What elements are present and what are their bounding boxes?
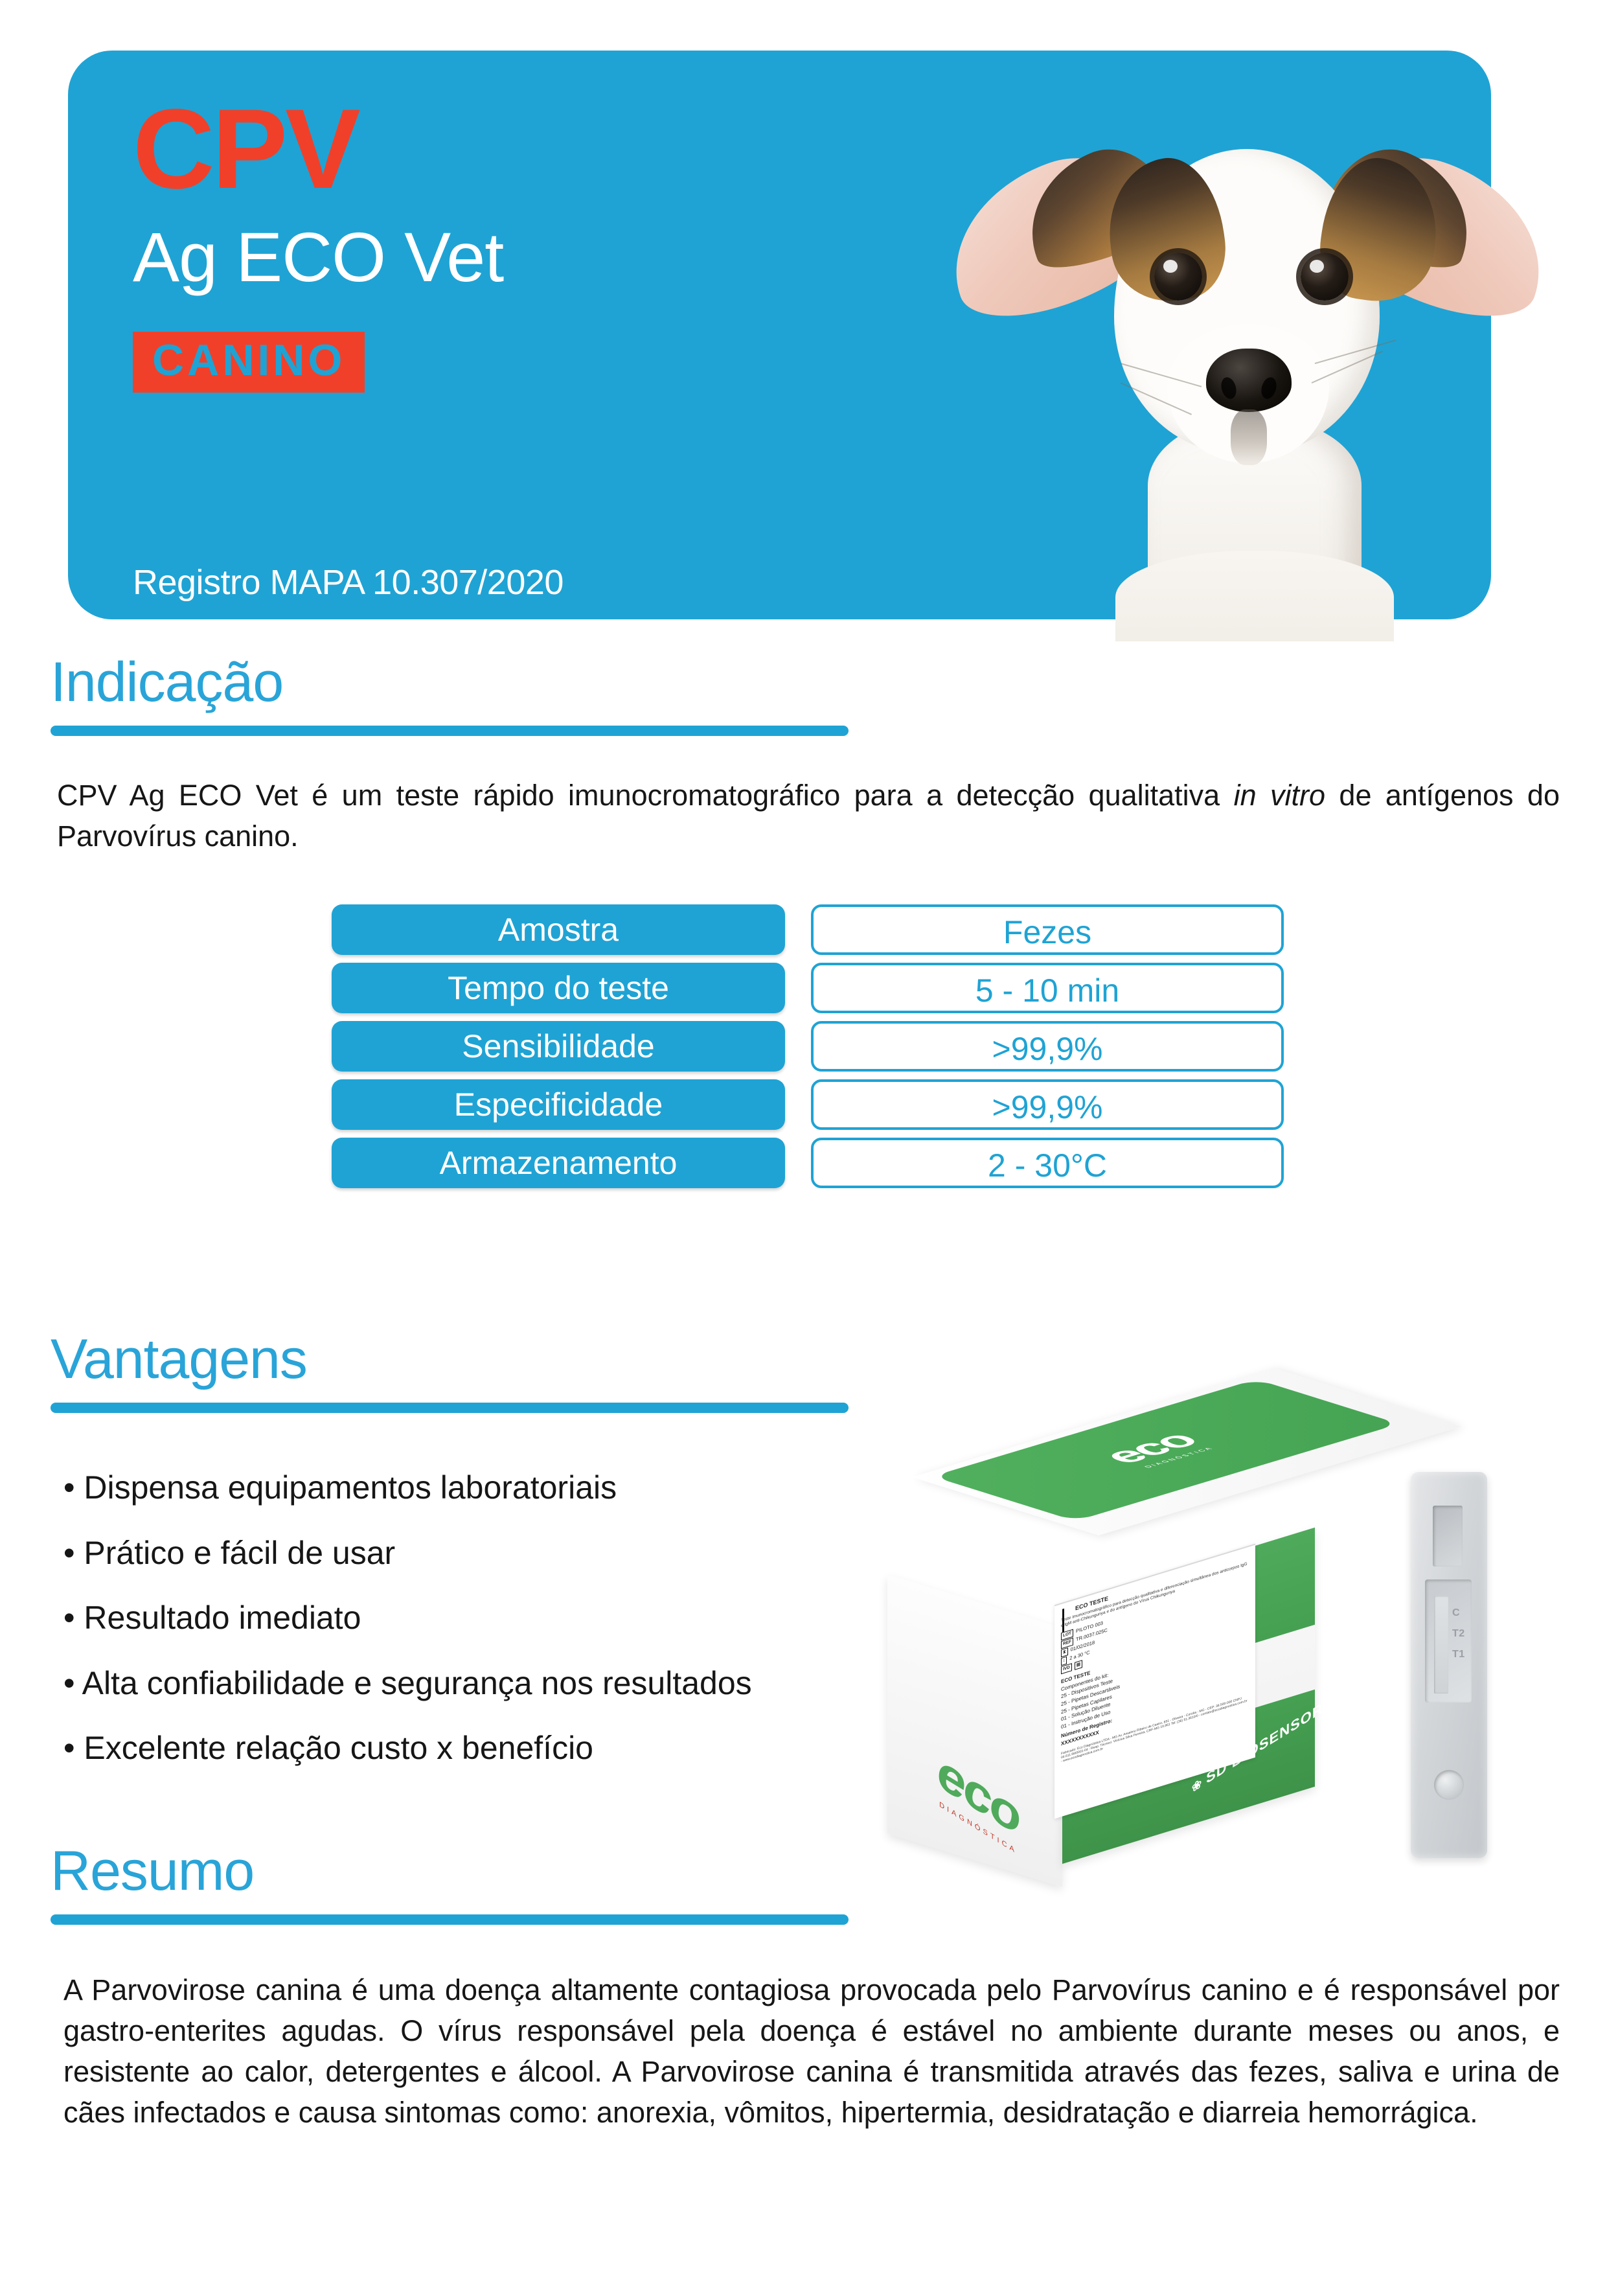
- cassette-mark-c: C: [1452, 1603, 1465, 1624]
- table-row: Amostra Fezes: [332, 904, 1284, 955]
- cassette-sample-port: [1433, 1506, 1463, 1567]
- cassette-mark-t1: T1: [1452, 1644, 1465, 1665]
- table-row: Sensibilidade >99,9%: [332, 1021, 1284, 1072]
- section-title-resumo: Resumo: [51, 1843, 849, 1899]
- label-black-bar: [1062, 1609, 1064, 1633]
- species-badge: CANINO: [133, 332, 365, 393]
- eco-logo-left: eco DIAGNÓSTICA: [913, 1725, 1043, 1872]
- spec-label-amostra: Amostra: [332, 904, 785, 955]
- list-item: Dispensa equipamentos laboratoriais: [63, 1471, 925, 1505]
- dog-mouth: [1231, 409, 1267, 465]
- spec-label-especificidade: Especificidade: [332, 1079, 785, 1130]
- cassette-sample-well: [1434, 1770, 1464, 1800]
- section-title-indicacao: Indicação: [51, 654, 849, 710]
- dog-illustration: [926, 39, 1561, 641]
- indicacao-paragraph: CPV Ag ECO Vet é um teste rápido imunocr…: [57, 775, 1560, 856]
- section-divider: [51, 1914, 849, 1925]
- manual-icon: ▤: [1075, 1660, 1082, 1670]
- table-row: Tempo do teste 5 - 10 min: [332, 963, 1284, 1013]
- specification-table: Amostra Fezes Tempo do teste 5 - 10 min …: [332, 904, 1284, 1196]
- dog-photo: [926, 39, 1561, 641]
- ivd-tag: IVD: [1061, 1663, 1072, 1674]
- cassette-line-labels: C T2 T1: [1452, 1603, 1465, 1665]
- registration-text: Registro MAPA 10.307/2020: [133, 562, 564, 603]
- section-header-vantagens: Vantagens: [51, 1331, 849, 1413]
- dog-eye-left: [1154, 253, 1202, 301]
- box-left-face: eco DIAGNÓSTICA: [887, 1574, 1062, 1887]
- section-divider: [51, 726, 849, 736]
- cassette-mark-t2: T2: [1452, 1624, 1465, 1644]
- cassette-result-window: C T2 T1: [1425, 1579, 1472, 1703]
- test-cassette: C T2 T1: [1411, 1472, 1487, 1858]
- list-item: Alta confiabilidade e segurança nos resu…: [63, 1666, 925, 1701]
- resumo-paragraph: A Parvovirose canina é uma doença altame…: [63, 1969, 1560, 2133]
- header-banner-section: CPV Ag ECO Vet CANINO Registro MAPA 10.3…: [0, 0, 1607, 641]
- spec-value-especificidade: >99,9%: [811, 1079, 1284, 1130]
- table-row: Especificidade >99,9%: [332, 1079, 1284, 1130]
- vantagens-list: Dispensa equipamentos laboratoriais Prát…: [63, 1471, 925, 1797]
- eco-brand-mark: eco: [913, 1725, 1043, 1863]
- list-item: Resultado imediato: [63, 1601, 925, 1635]
- brand-block: CPV Ag ECO Vet CANINO: [133, 97, 845, 393]
- product-photo: eco DIAGNÓSTICA eco DIAGNÓSTICA eco DIAG…: [868, 1445, 1555, 1885]
- product-box: eco DIAGNÓSTICA eco DIAGNÓSTICA eco DIAG…: [887, 1477, 1406, 1866]
- spec-value-armazenamento: 2 - 30°C: [811, 1138, 1284, 1188]
- dog-nose: [1206, 349, 1292, 412]
- section-title-vantagens: Vantagens: [51, 1331, 849, 1387]
- list-item: Excelente relação custo x benefício: [63, 1731, 925, 1765]
- cassette-test-strip: [1434, 1596, 1448, 1693]
- dog-chest: [1115, 551, 1394, 641]
- product-code: CPV: [133, 97, 845, 201]
- section-divider: [51, 1403, 849, 1413]
- spec-label-sensibilidade: Sensibilidade: [332, 1021, 785, 1072]
- spec-value-amostra: Fezes: [811, 904, 1284, 955]
- spec-value-tempo-do-teste: 5 - 10 min: [811, 963, 1284, 1013]
- spec-label-tempo-do-teste: Tempo do teste: [332, 963, 785, 1013]
- section-header-indicacao: Indicação: [51, 654, 849, 736]
- list-item: Prático e fácil de usar: [63, 1536, 925, 1570]
- table-row: Armazenamento 2 - 30°C: [332, 1138, 1284, 1188]
- section-header-resumo: Resumo: [51, 1843, 849, 1925]
- spec-label-armazenamento: Armazenamento: [332, 1138, 785, 1188]
- spec-value-sensibilidade: >99,9%: [811, 1021, 1284, 1072]
- box-top-face: eco DIAGNÓSTICA: [912, 1368, 1461, 1535]
- indicacao-italic-term: in vitro: [1234, 779, 1325, 812]
- dog-eye-right: [1301, 253, 1349, 301]
- product-name: Ag ECO Vet: [133, 216, 845, 298]
- indicacao-text-part1: CPV Ag ECO Vet é um teste rápido imunocr…: [57, 779, 1234, 812]
